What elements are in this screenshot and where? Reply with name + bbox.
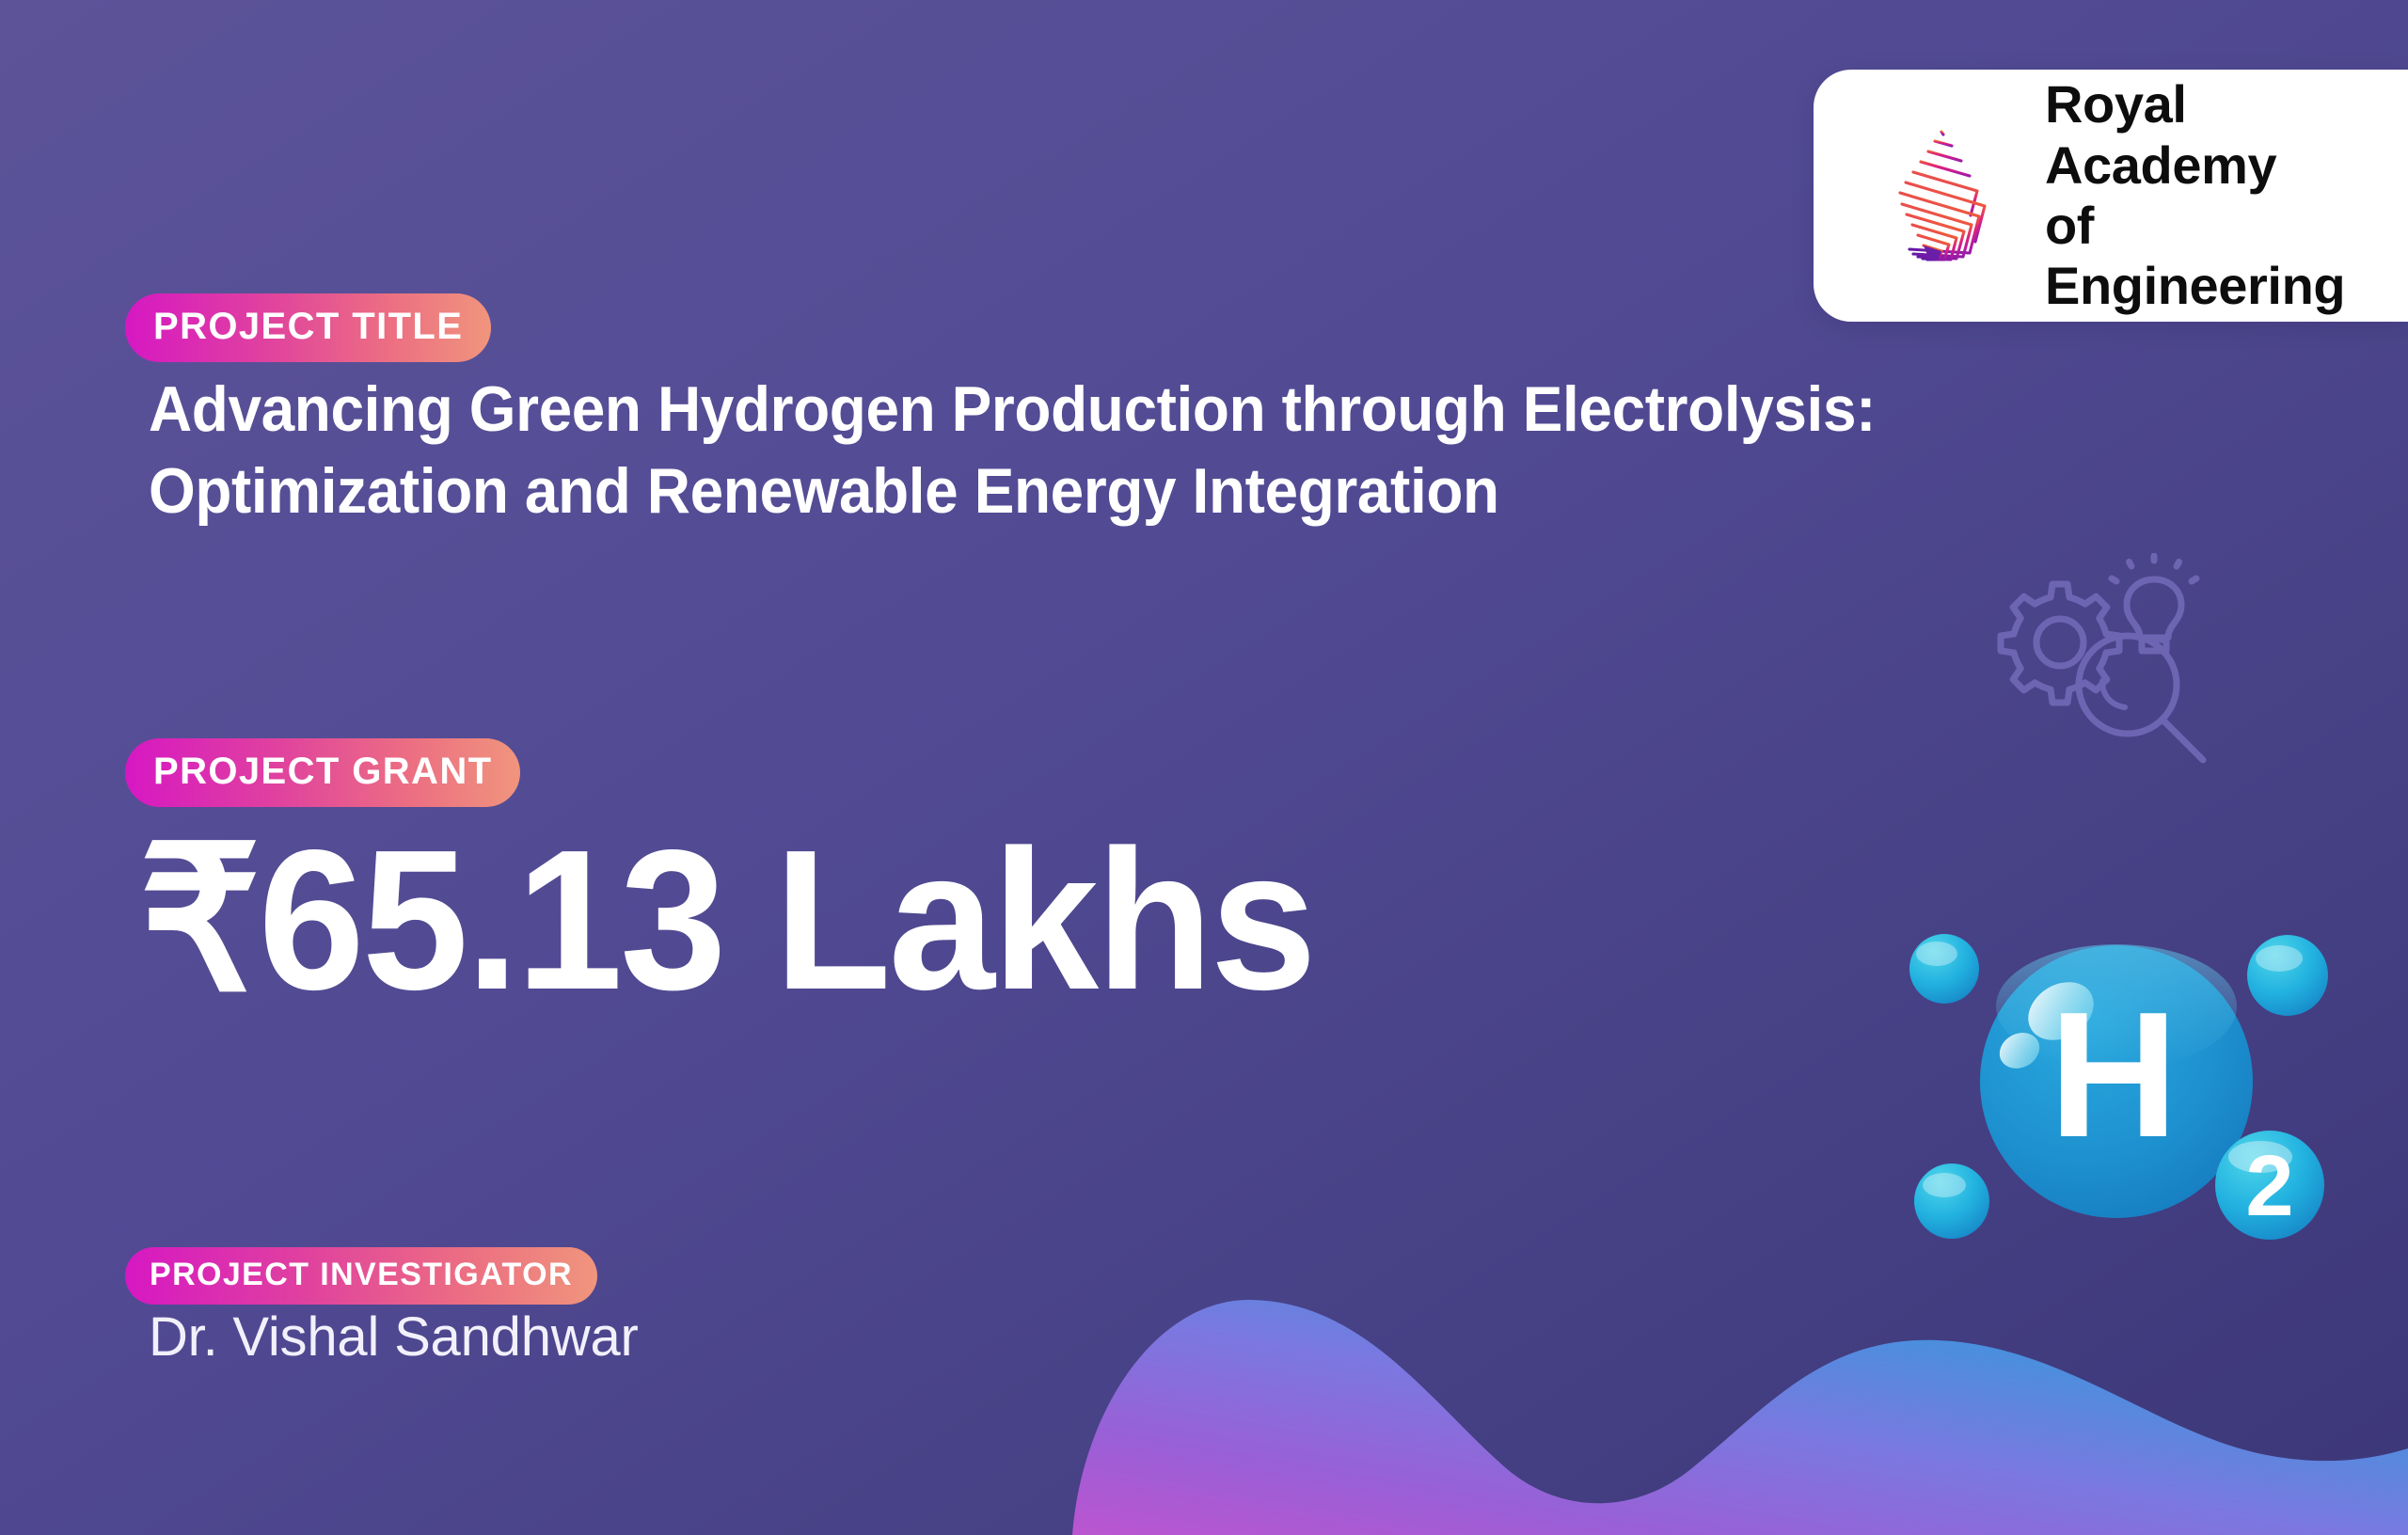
satellite-bubble-top-right <box>2247 935 2328 1016</box>
project-title-line-2: Optimization and Renewable Energy Integr… <box>149 451 1970 532</box>
gradient-corner-blob <box>0 0 115 299</box>
satellite-bubble-bottom-left <box>1914 1163 1989 1239</box>
gear-lightbulb-magnifier-icon <box>1985 553 2229 779</box>
project-investigator-name: Dr. Vishal Sandhwar <box>149 1307 639 1368</box>
royal-academy-emblem-icon <box>1872 125 2013 266</box>
h2-subscript-label: 2 <box>2245 1138 2293 1234</box>
project-poster: Royal Academy of Engineering PROJECT TIT… <box>0 0 2408 1535</box>
project-title-heading: Advancing Green Hydrogen Production thro… <box>149 369 1970 532</box>
project-grant-amount: ₹65.13 Lakhs <box>139 820 1314 1020</box>
royal-academy-logo-card: Royal Academy of Engineering <box>1814 70 2408 322</box>
project-investigator-badge: PROJECT INVESTIGATOR <box>125 1247 597 1305</box>
hydrogen-molecule-bubble-icon: 2 H <box>1877 884 2366 1260</box>
hydrogen-letter-label: H <box>2049 975 2178 1175</box>
project-title-line-1: Advancing Green Hydrogen Production thro… <box>149 369 1970 451</box>
project-grant-badge: PROJECT GRANT <box>125 738 520 807</box>
gradient-bottom-wave <box>1072 1300 2408 1535</box>
satellite-bubble-top-left <box>1909 934 1979 1004</box>
h2-subscript-bubble: 2 <box>2215 1131 2324 1240</box>
logo-wordmark: Royal Academy of Engineering <box>2045 74 2408 317</box>
project-title-badge: PROJECT TITLE <box>125 293 491 362</box>
